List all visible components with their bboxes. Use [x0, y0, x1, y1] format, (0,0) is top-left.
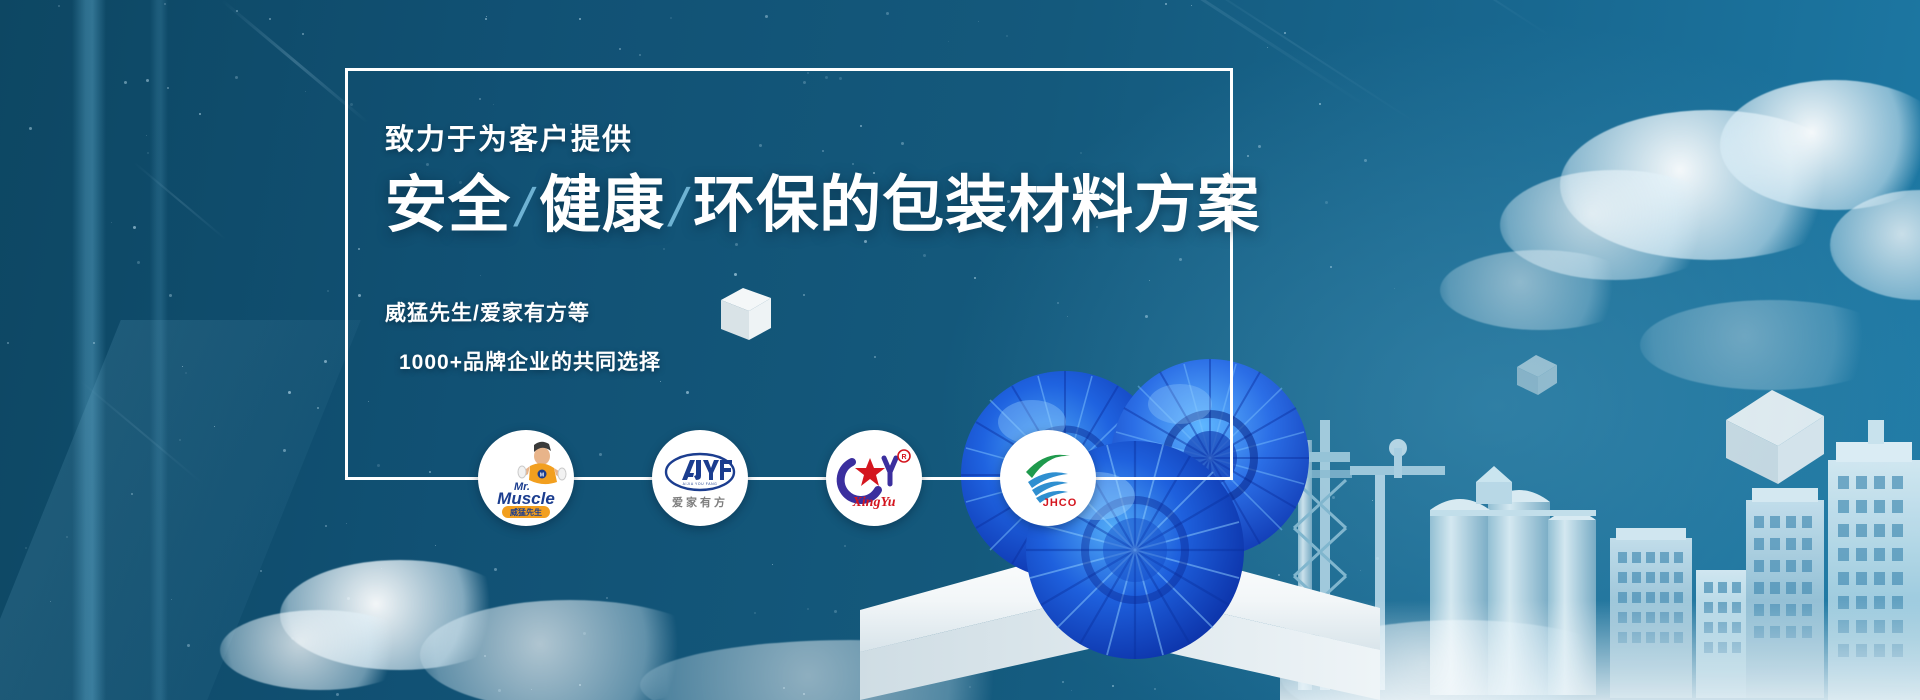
sparkle-dot — [58, 5, 60, 7]
light-streak-icon — [1349, 0, 1551, 37]
sparkle-dot — [429, 471, 431, 473]
sparkle-dot — [1284, 32, 1286, 34]
sparkle-dot — [1319, 103, 1321, 105]
cloud-shape — [1640, 300, 1900, 390]
light-streak-icon — [133, 162, 226, 241]
brand-logo-jhco[interactable]: JHCO — [1000, 430, 1096, 526]
sparkle-dot — [754, 612, 756, 614]
sparkle-dot — [493, 104, 494, 105]
floating-cube-icon — [1514, 352, 1560, 398]
sparkle-dot — [260, 570, 262, 572]
sparkle-dot — [978, 21, 979, 22]
sparkle-dot — [1364, 159, 1367, 162]
sparkle-dot — [167, 87, 169, 89]
sparkle-dot — [350, 103, 353, 106]
sparkle-dot — [29, 127, 32, 130]
sparkle-dot — [1330, 266, 1332, 268]
hero-headline: 安全/健康/环保的包装材料方案 — [385, 171, 1285, 240]
svg-text:AIJIA YOU FANG: AIJIA YOU FANG — [683, 482, 718, 486]
sparkle-dot — [494, 568, 497, 571]
hero-subline-1: 威猛先生/爱家有方等 — [385, 302, 1285, 325]
cloud-shape — [220, 610, 420, 690]
sparkle-dot — [137, 261, 140, 264]
sparkle-dot — [1191, 5, 1192, 6]
sparkle-dot — [305, 91, 306, 92]
svg-text:JHCO: JHCO — [1043, 497, 1078, 509]
svg-text:Muscle: Muscle — [497, 489, 555, 508]
sparkle-dot — [214, 426, 215, 427]
sparkle-dot — [670, 17, 672, 19]
sparkle-dot — [345, 454, 347, 456]
headline-part-1: 安全 — [385, 171, 511, 240]
sparkle-dot — [479, 98, 481, 100]
sparkle-dot — [111, 222, 112, 223]
sparkle-dot — [1325, 201, 1328, 204]
hero-text-block: 致力于为客户提供 安全/健康/环保的包装材料方案 威猛先生/爱家有方等 1000… — [385, 125, 1285, 375]
brand-logo-mr-muscle[interactable]: M Mr. Muscle 威猛先生 — [478, 430, 574, 526]
sparkle-dot — [599, 453, 602, 456]
hero-subline-2: 1000+品牌企业的共同选择 — [399, 351, 1285, 374]
sparkle-dot — [486, 16, 487, 17]
sparkle-dot — [146, 79, 149, 82]
cloud-shape — [1440, 250, 1640, 330]
svg-text:XingYu: XingYu — [851, 495, 895, 510]
sparkle-dot — [66, 536, 68, 538]
sparkle-dot — [327, 290, 329, 292]
sparkle-dot — [1165, 3, 1167, 5]
sparkle-dot — [358, 294, 361, 297]
sparkle-dot — [579, 18, 581, 20]
sparkle-dot — [765, 15, 768, 18]
headline-separator-2: / — [665, 178, 694, 238]
sparkle-dot — [639, 54, 641, 56]
svg-text:M: M — [540, 473, 544, 479]
sparkle-dot — [1006, 35, 1008, 37]
sparkle-dot — [336, 693, 339, 696]
sparkle-dot — [368, 401, 369, 402]
sparkle-dot — [619, 48, 621, 50]
sparkle-dot — [660, 381, 661, 382]
sparkle-dot — [325, 525, 327, 527]
light-streak-icon — [1164, 0, 1417, 124]
sparkle-dot — [886, 12, 889, 15]
sparkle-dot — [435, 545, 436, 546]
hero-eyebrow: 致力于为客户提供 — [385, 125, 1285, 157]
sparkle-dot — [133, 226, 136, 229]
sparkle-dot — [235, 76, 238, 79]
sparkle-dot — [346, 523, 347, 524]
headline-separator-1: / — [511, 178, 540, 238]
sparkle-dot — [948, 41, 949, 42]
sparkle-dot — [807, 72, 809, 74]
headline-part-3: 环保的包装材料方案 — [693, 171, 1260, 240]
sparkle-dot — [772, 564, 773, 565]
sparkle-dot — [179, 439, 181, 441]
sparkle-dot — [803, 81, 806, 84]
headline-part-2: 健康 — [539, 171, 665, 240]
sparkle-dot — [25, 547, 27, 549]
sparkle-dot — [825, 76, 828, 79]
sparkle-dot — [169, 294, 172, 297]
svg-text:威猛先生: 威猛先生 — [510, 507, 542, 517]
sparkle-dot — [358, 248, 360, 250]
sparkle-dot — [124, 81, 127, 84]
sparkle-dot — [146, 135, 147, 136]
svg-text:R: R — [901, 454, 906, 461]
sparkle-dot — [199, 113, 201, 115]
sparkle-dot — [7, 342, 9, 344]
svg-text:爱家有方: 爱家有方 — [672, 495, 728, 509]
sparkle-dot — [269, 18, 271, 20]
sparkle-dot — [377, 464, 380, 467]
hero-banner: 致力于为客户提供 安全/健康/环保的包装材料方案 威猛先生/爱家有方等 1000… — [0, 0, 1920, 700]
sparkle-dot — [686, 391, 689, 394]
sparkle-dot — [606, 597, 608, 599]
sparkle-dot — [839, 77, 842, 80]
sparkle-dot — [807, 608, 809, 610]
light-streak-icon — [1013, 0, 1367, 107]
sparkle-dot — [302, 33, 304, 35]
sparkle-dot — [485, 18, 487, 20]
light-streak-icon — [221, 0, 368, 124]
floating-cube-icon — [1720, 380, 1830, 490]
brand-logo-ajyf[interactable]: AIJIA YOU FANG 爱家有方 — [652, 430, 748, 526]
brand-logo-xing-yu[interactable]: R XingYu — [826, 430, 922, 526]
sparkle-dot — [1267, 47, 1268, 48]
